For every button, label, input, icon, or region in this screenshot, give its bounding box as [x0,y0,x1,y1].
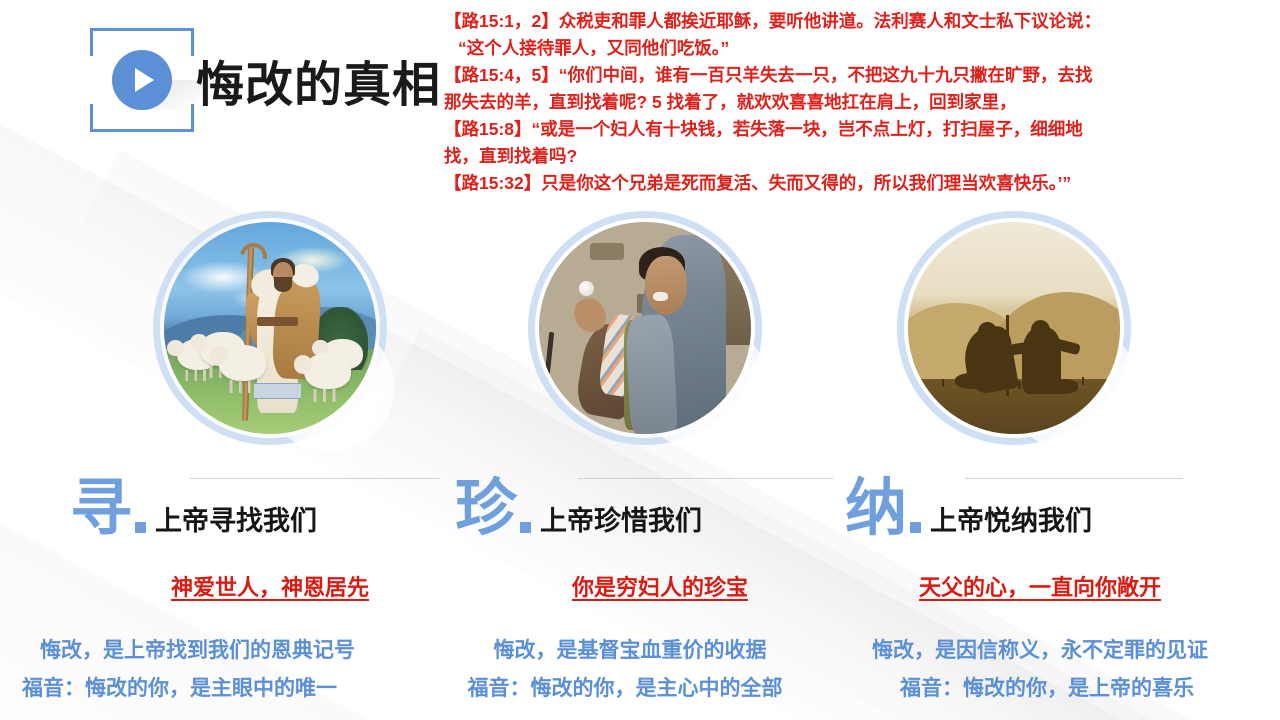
play-circle-icon [112,50,172,110]
square-dot-icon [135,522,146,533]
column-subheading: 上帝寻找我们 [155,508,317,540]
square-dot-icon [910,522,921,533]
scripture-line: “这个人接待罪人，又同他们吃饭。” [444,35,1272,62]
photo-image [164,222,376,434]
photo-woman-with-lost-coin [539,222,751,434]
photo-image [908,222,1120,434]
column-red-emphasis-1: 神爱世人，神恩居先 [70,570,470,602]
column-heading-2: 珍 上帝珍惜我们 [455,478,702,540]
scripture-line: 【路15:32】只是你这个兄弟是死而复活、失而又得的，所以我们理当欢喜快乐。’” [444,170,1272,197]
column-body-line: 悔改，是因信称义，永不定罪的见证 [872,639,1208,662]
column-body-text-1: 悔改，是上帝找到我们的恩典记号 福音：悔改的你，是主眼中的唯一 [22,632,422,708]
play-button-icon [90,28,194,132]
photo-shepherd-with-sheep [164,222,376,434]
column-big-char: 寻 [70,478,132,540]
page-title: 悔改的真相 [196,45,441,115]
column-red-emphasis-3: 天父的心，一直向你敞开 [840,570,1240,602]
photo-prodigal-son-silhouette [908,222,1120,434]
photo-image [539,222,751,434]
column-body-line: 悔改，是上帝找到我们的恩典记号 [22,639,355,662]
column-red-emphasis-2: 你是穷妇人的珍宝 [460,570,860,602]
presentation-slide: 悔改的真相 【路15:1，2】众税吏和罪人都挨近耶稣，要听他讲道。法利赛人和文士… [0,0,1280,720]
column-big-char: 珍 [455,478,517,540]
scripture-line: 找，直到找着吗? [444,143,1272,170]
column-body-text-3: 悔改，是因信称义，永不定罪的见证 福音：悔改的你，是上帝的喜乐 [840,632,1240,708]
column-body-line: 福音：悔改的你，是主眼中的唯一 [22,670,422,708]
column-subheading: 上帝悦纳我们 [930,508,1092,540]
column-body-line: 悔改，是基督宝血重价的收据 [484,639,767,662]
scripture-block: 【路15:1，2】众税吏和罪人都挨近耶稣，要听他讲道。法利赛人和文士私下议论说：… [444,8,1272,197]
column-big-char: 纳 [845,478,907,540]
scripture-line: 【路15:8】“或是一个妇人有十块钱，若失落一块，岂不点上灯，打扫屋子，细细地 [444,116,1272,143]
column-heading-3: 纳 上帝悦纳我们 [845,478,1092,540]
square-dot-icon [520,522,531,533]
scripture-line: 【路15:1，2】众税吏和罪人都挨近耶稣，要听他讲道。法利赛人和文士私下议论说： [444,8,1272,35]
column-heading-1: 寻 上帝寻找我们 [70,478,317,540]
column-subheading: 上帝珍惜我们 [540,508,702,540]
column-body-text-2: 悔改，是基督宝血重价的收据 福音：悔改的你，是主心中的全部 [425,632,825,708]
column-body-line: 福音：悔改的你，是上帝的喜乐 [840,670,1240,708]
scripture-line: 那失去的羊，直到找着呢? 5 找着了，就欢欢喜喜地扛在肩上，回到家里， [444,89,1272,116]
column-body-line: 福音：悔改的你，是主心中的全部 [425,670,825,708]
scripture-line: 【路15:4，5】“你们中间，谁有一百只羊失去一只，不把这九十九只撇在旷野，去找 [444,62,1272,89]
